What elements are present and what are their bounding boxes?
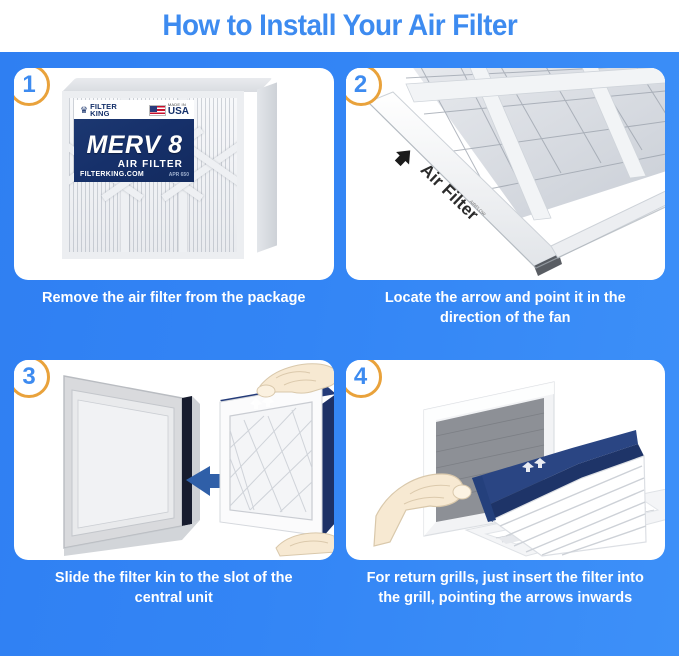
return-grill-illustration bbox=[346, 360, 666, 560]
brand-name: FILTER KING bbox=[90, 103, 117, 117]
angled-filter-image: Air Filter AIRFLOW bbox=[346, 68, 666, 280]
crown-icon: ♛ bbox=[80, 105, 88, 116]
steps-grid: 1 ♛ bbox=[0, 52, 679, 656]
filter-top-face bbox=[62, 78, 273, 92]
label-footer: FILTERKING.COM APR 650 bbox=[80, 171, 189, 178]
us-flag-icon bbox=[149, 105, 166, 116]
merv-rating: MERV 8 bbox=[80, 131, 189, 160]
step-1: 1 ♛ bbox=[14, 68, 334, 354]
step-2-card: 2 bbox=[346, 68, 666, 280]
step-1-badge: 1 bbox=[14, 68, 50, 106]
step-3: 3 bbox=[14, 360, 334, 646]
filter-side-face bbox=[257, 82, 277, 252]
slide-filter-illustration bbox=[14, 360, 334, 560]
step-3-caption: Slide the filter kin to the slot of the … bbox=[14, 560, 334, 608]
page-header: How to Install Your Air Filter bbox=[0, 0, 679, 52]
step-4-caption: For return grills, just insert the filte… bbox=[346, 560, 666, 608]
step-4: 4 bbox=[346, 360, 666, 646]
step-3-card: 3 bbox=[14, 360, 334, 560]
made-in-usa-text: MADE IN USA bbox=[168, 103, 189, 116]
brand-line-2: KING bbox=[90, 109, 110, 118]
step-2: 2 bbox=[346, 68, 666, 354]
filter-king-logo: ♛ FILTER KING bbox=[80, 103, 117, 117]
made-in-usa-mark: MADE IN USA bbox=[149, 103, 189, 116]
page-title: How to Install Your Air Filter bbox=[162, 9, 517, 43]
filter-front-face: ♛ FILTER KING MADE IN USA bbox=[62, 91, 244, 259]
step-1-card: 1 ♛ bbox=[14, 68, 334, 280]
air-filter-product-image: ♛ FILTER KING MADE IN USA bbox=[62, 78, 277, 263]
label-top-row: ♛ FILTER KING MADE IN USA bbox=[74, 100, 194, 119]
return-grill-graphic bbox=[346, 360, 666, 560]
product-type-label: AIR FILTER bbox=[80, 159, 189, 170]
country-label: USA bbox=[168, 107, 189, 117]
apr-code: APR 650 bbox=[169, 172, 189, 178]
slide-filter-graphic bbox=[14, 360, 334, 560]
step-1-caption: Remove the air filter from the package bbox=[14, 280, 334, 309]
step-2-caption: Locate the arrow and point it in the dir… bbox=[346, 280, 666, 328]
filter-product-label: ♛ FILTER KING MADE IN USA bbox=[74, 100, 194, 182]
angled-filter-graphic bbox=[346, 68, 666, 280]
step-4-card: 4 bbox=[346, 360, 666, 560]
brand-website: FILTERKING.COM bbox=[80, 171, 144, 178]
